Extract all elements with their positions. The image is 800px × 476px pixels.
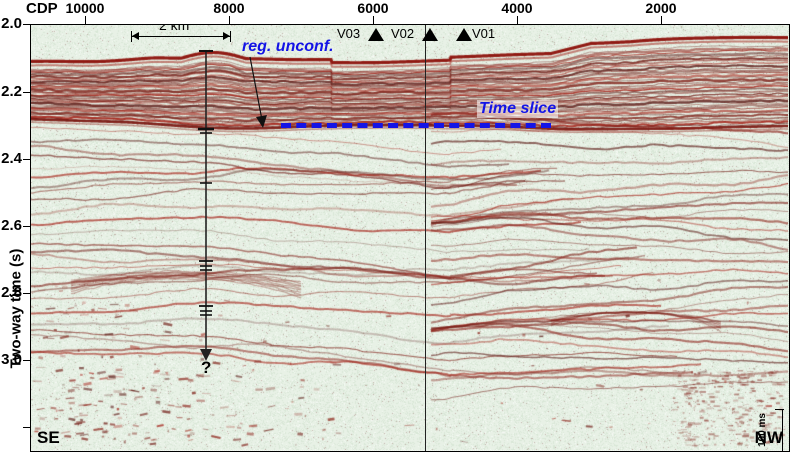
unconformity-label: reg. unconf. <box>242 38 334 56</box>
y-tick-label-2.4: 2.4 <box>0 150 22 167</box>
y-tick-2.4 <box>23 159 30 160</box>
x-tick-label-8000: 8000 <box>213 0 244 16</box>
x-tick-label-2000: 2000 <box>645 0 676 16</box>
x-tick-label-10000: 10000 <box>66 0 105 16</box>
well-label-v03: V03 <box>337 26 360 41</box>
well-label-v02: V02 <box>391 26 414 41</box>
x-axis-title: CDP <box>26 0 58 17</box>
well-triangle-v02 <box>422 28 438 41</box>
y-tick-label-2.0: 2.0 <box>0 15 22 32</box>
unconformity-arrow <box>31 25 788 450</box>
x-tick-label-4000: 4000 <box>501 0 532 16</box>
x-tick-8000 <box>229 16 230 24</box>
y-tick-2.2 <box>23 92 30 93</box>
time-slice-label: Time slice <box>477 100 558 118</box>
x-tick-2000 <box>661 16 662 24</box>
x-tick-4000 <box>517 16 518 24</box>
y-axis-title: Two-way time (s) <box>8 199 25 419</box>
well-label-v01: V01 <box>472 26 495 41</box>
y-tick-minor <box>23 427 30 428</box>
y-tick-2.0 <box>23 24 30 25</box>
corner-label-se: SE <box>37 428 60 448</box>
x-tick-10000 <box>85 16 86 24</box>
y-tick-label-2.2: 2.2 <box>0 83 22 100</box>
seismic-figure: CDP 100008000600040002000 2.02.22.42.62.… <box>0 0 800 476</box>
x-tick-6000 <box>373 16 374 24</box>
corner-label-nw: NW <box>755 428 783 448</box>
x-tick-label-6000: 6000 <box>357 0 388 16</box>
well-triangle-v03 <box>368 28 384 41</box>
seismic-plot-area: 2 km ? <box>30 24 790 452</box>
time-slice-line <box>281 123 551 128</box>
well-triangle-v01 <box>456 28 472 41</box>
